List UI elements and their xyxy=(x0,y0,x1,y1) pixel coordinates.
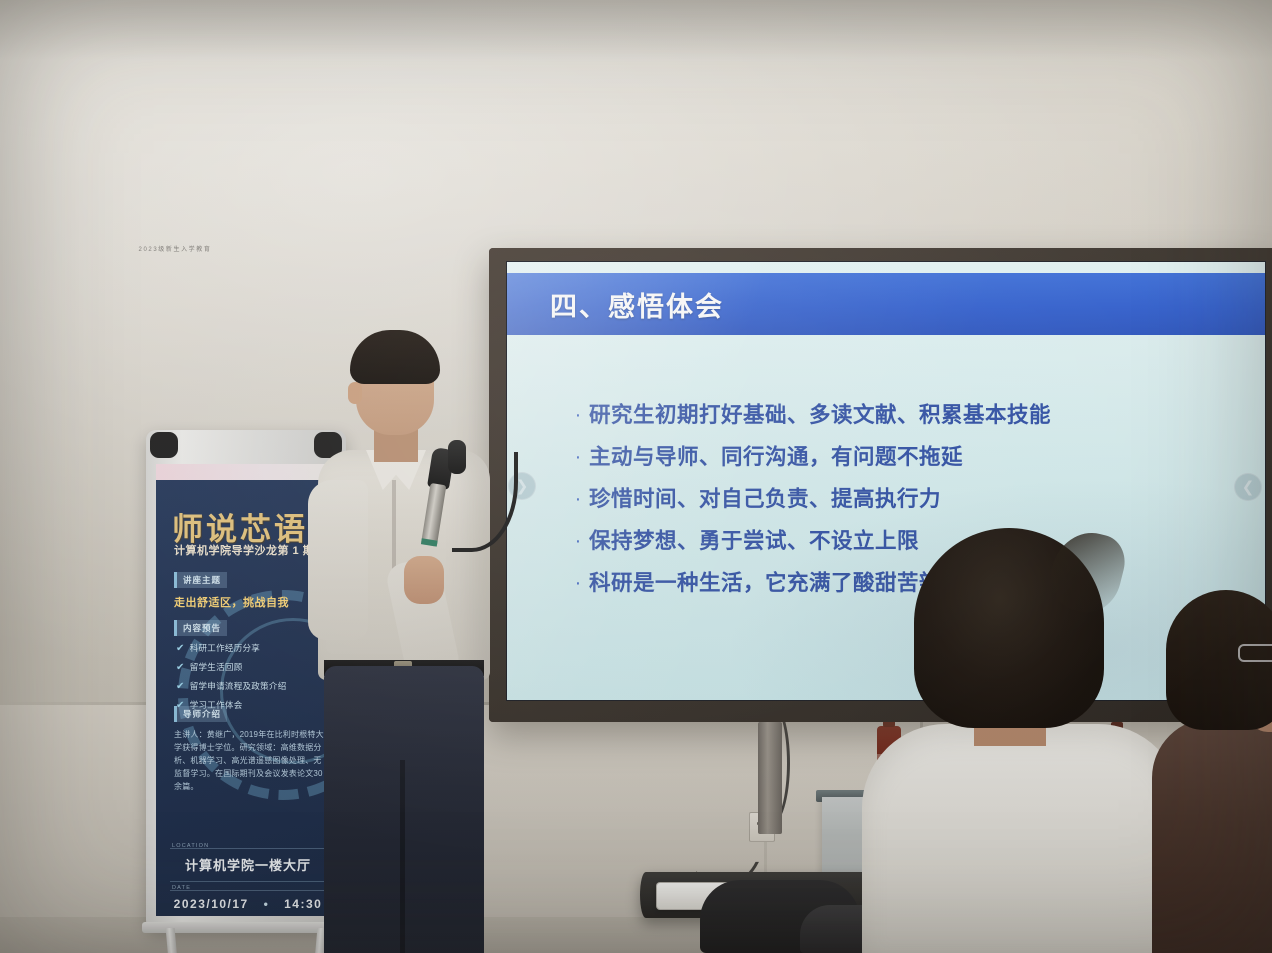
microphone-stand xyxy=(452,440,514,558)
display-stand-neck xyxy=(758,722,782,834)
bullet-marker: · xyxy=(567,444,589,470)
presenter-ear xyxy=(348,382,362,404)
slide-title: 四、感悟体会 xyxy=(550,285,724,324)
chevron-left-icon[interactable]: ❮ xyxy=(1234,473,1262,501)
presenter-hair xyxy=(350,330,440,384)
microphone-ring xyxy=(421,538,438,546)
presenter xyxy=(300,330,530,953)
poster-location-label: LOCATION xyxy=(172,843,209,849)
tshirt-print-text: 2023级新生入学教育 xyxy=(120,244,230,253)
audience-shirt xyxy=(1152,718,1272,953)
poster-section-speaker-label: 导师介绍 xyxy=(174,706,227,722)
check-icon: ✔ xyxy=(176,662,185,673)
bullet-text: 珍惜时间、对自己负责、提高执行力 xyxy=(589,486,941,513)
audience-tshirt xyxy=(862,724,1182,953)
photo-scene: 四、感悟体会 · 研究生初期打好基础、多读文献、积累基本技能 · 主动与导师、同… xyxy=(0,0,1272,953)
presenter-sleeve xyxy=(308,480,368,640)
poster-subtitle: 计算机学院导学沙龙第 1 期 xyxy=(174,542,314,558)
poster-section-theme-label: 讲座主题 xyxy=(174,572,227,588)
list-item: · 珍惜时间、对自己负责、提高执行力 xyxy=(567,486,1225,513)
list-item: ✔ 留学申请流程及政策介绍 xyxy=(176,680,287,692)
trouser-seam xyxy=(400,760,405,953)
easel-leg xyxy=(166,928,180,953)
glasses-icon xyxy=(1238,644,1272,662)
audience-member-front xyxy=(862,528,1182,953)
list-item: · 研究生初期打好基础、多读文献、积累基本技能 xyxy=(567,402,1225,429)
check-icon: ✔ xyxy=(176,681,185,692)
presenter-placket xyxy=(392,480,396,570)
bullet-marker: · xyxy=(567,570,589,596)
poster-date-value: 2023/10/17 xyxy=(174,897,249,911)
ceiling-shadow xyxy=(0,0,1272,60)
audience-member-side xyxy=(1162,590,1272,953)
boom-microphone-head xyxy=(448,440,466,474)
bullet-text: 研究生初期打好基础、多读文献、积累基本技能 xyxy=(589,402,1051,429)
bullet-text: 主动与导师、同行沟通，有问题不拖延 xyxy=(589,444,963,471)
bullet-marker: · xyxy=(567,402,589,428)
list-item: ✔ 科研工作经历分享 xyxy=(176,642,287,654)
bullet-marker: · xyxy=(567,486,589,512)
poster-date-label: DATE xyxy=(172,885,191,891)
poster-section-preview-label: 内容预告 xyxy=(174,620,227,636)
separator-icon: • xyxy=(264,897,270,911)
easel-corner-cap xyxy=(150,432,178,458)
presenter-hand xyxy=(404,556,444,604)
slide-header: 四、感悟体会 xyxy=(507,273,1265,335)
list-item: ✔ 留学生活回顾 xyxy=(176,661,287,673)
bullet-marker: · xyxy=(567,528,589,554)
list-item-label: 科研工作经历分享 xyxy=(190,642,260,654)
list-item-label: 留学申请流程及政策介绍 xyxy=(190,680,287,692)
list-item: · 主动与导师、同行沟通，有问题不拖延 xyxy=(567,444,1225,471)
list-item-label: 留学生活回顾 xyxy=(190,661,243,673)
check-icon: ✔ xyxy=(176,643,185,654)
poster-theme-text: 走出舒适区，挑战自我 xyxy=(174,594,289,610)
